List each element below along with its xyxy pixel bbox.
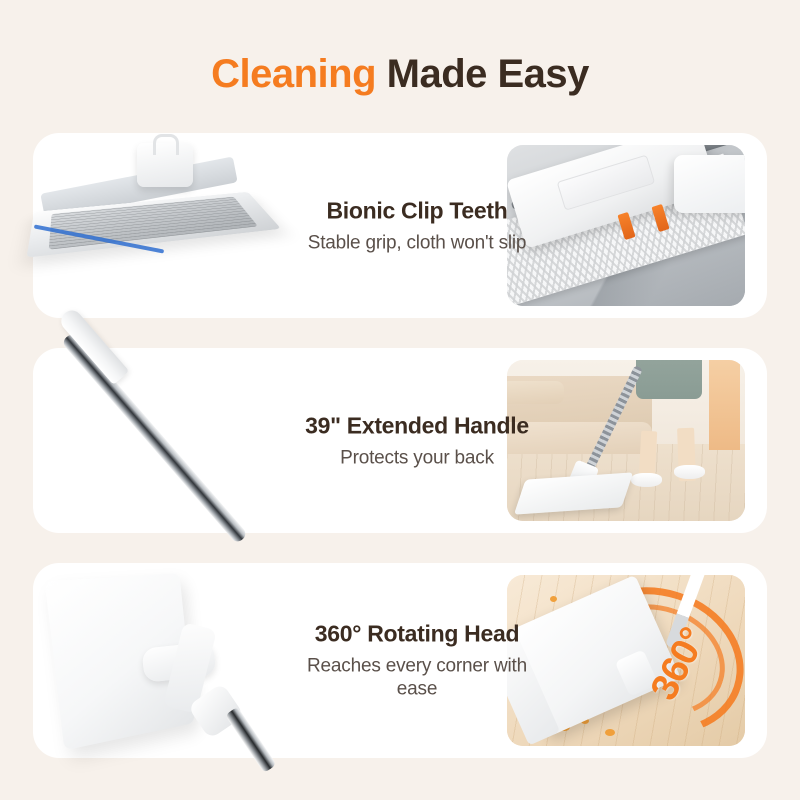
title-accent-word: Cleaning bbox=[211, 52, 376, 96]
product-image-extended-handle bbox=[33, 348, 303, 533]
feature-text-block: 360° Rotating Head Reaches every corner … bbox=[291, 619, 543, 702]
feature-title: 360° Rotating Head bbox=[291, 619, 543, 647]
feature-card-extended-handle[interactable]: 39" Extended Handle Protects your back bbox=[33, 348, 767, 533]
feature-subtitle: Protects your back bbox=[291, 446, 543, 470]
clip-latch bbox=[137, 143, 193, 187]
feature-text-block: Bionic Clip Teeth Stable grip, cloth won… bbox=[291, 196, 543, 255]
floor-debris bbox=[550, 596, 557, 602]
feature-text-block: 39" Extended Handle Protects your back bbox=[291, 411, 543, 470]
feature-card-bionic-clip-teeth[interactable]: Bionic Clip Teeth Stable grip, cloth won… bbox=[33, 133, 767, 318]
feature-card-rotating-head[interactable]: 360° Rotating Head Reaches every corner … bbox=[33, 563, 767, 758]
chrome-pole bbox=[61, 332, 248, 544]
person-skirt bbox=[636, 360, 703, 399]
feature-subtitle: Stable grip, cloth won't slip bbox=[291, 231, 543, 255]
curtain bbox=[709, 360, 740, 450]
sofa-cushion bbox=[507, 381, 564, 404]
mop-body-block bbox=[674, 155, 745, 213]
feature-subtitle: Reaches every corner with ease bbox=[291, 654, 543, 702]
slipper-right bbox=[674, 465, 705, 479]
product-image-mop-head bbox=[33, 133, 303, 318]
floor-debris bbox=[605, 729, 615, 736]
slipper-left bbox=[631, 473, 662, 487]
chrome-pole bbox=[225, 707, 277, 773]
page-title: Cleaning Made Easy bbox=[0, 0, 800, 97]
title-rest-words: Made Easy bbox=[387, 52, 589, 96]
product-image-swivel-head bbox=[33, 563, 303, 758]
feature-title: Bionic Clip Teeth bbox=[291, 196, 543, 224]
feature-card-list: Bionic Clip Teeth Stable grip, cloth won… bbox=[33, 133, 767, 788]
feature-title: 39" Extended Handle bbox=[291, 411, 543, 439]
